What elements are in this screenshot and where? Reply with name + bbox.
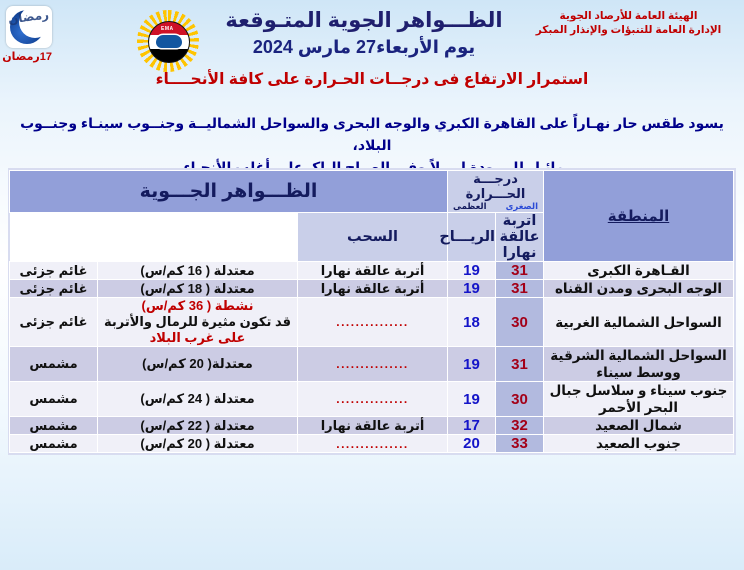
wind-speed-label: نشطة ( 36 كم/س) bbox=[98, 298, 297, 314]
region-cell: السواحل الشمالية الشرقية ووسط سيناء bbox=[544, 347, 734, 382]
wind-speed-label: معتدلة ( 22 كم/س) bbox=[98, 418, 297, 434]
title-block: الظـــواهر الجوية المتـوقعة يوم الأربعاء… bbox=[209, 8, 519, 59]
dust-cell: ............... bbox=[298, 435, 448, 453]
temp-min-cell: 18 bbox=[448, 298, 496, 347]
wind-cell: معتدلة ( 18 كم/س) bbox=[98, 280, 298, 298]
wind-note-line-1: قد تكون مثيرة للرمال والأتربة bbox=[98, 314, 297, 330]
ema-sun-logo: EMA bbox=[137, 10, 199, 72]
wind-speed-label: معتدلة( 20 كم/س) bbox=[98, 356, 297, 372]
temp-max-cell: 30 bbox=[496, 298, 544, 347]
wind-speed-label: معتدلة ( 18 كم/س) bbox=[98, 281, 297, 297]
wind-cell: معتدلة( 20 كم/س) bbox=[98, 347, 298, 382]
page-title: الظـــواهر الجوية المتـوقعة bbox=[209, 8, 519, 34]
page-header: رمضان 17رمضان EMA الظـــواهر الجوية المت… bbox=[0, 0, 744, 168]
dust-placeholder-dots: ............... bbox=[336, 392, 409, 406]
temp-max-cell: 30 bbox=[496, 382, 544, 417]
dust-cell: أتربة عالقة نهارا bbox=[298, 280, 448, 298]
temp-max-cell: 33 bbox=[496, 435, 544, 453]
dust-cell: ............... bbox=[298, 298, 448, 347]
ramadan-logo: رمضان 17رمضان bbox=[4, 6, 52, 63]
ramadan-date-label: 17رمضان bbox=[4, 50, 52, 63]
crescent-moon-icon: رمضان bbox=[6, 6, 52, 48]
temp-min-cell: 20 bbox=[448, 435, 496, 453]
forecast-date: يوم الأربعاء27 مارس 2024 bbox=[209, 35, 519, 59]
forecast-page: رمضان 17رمضان EMA الظـــواهر الجوية المت… bbox=[0, 0, 744, 570]
table-header-row-1: المنطقة درجـــة الحـــرارة الصغرى العظمى… bbox=[10, 171, 734, 213]
cloud-cell: غائم جزئى bbox=[10, 298, 98, 347]
dust-cell: أتربة عالقة نهارا bbox=[298, 417, 448, 435]
table-row: القـاهرة الكبرى3119أتربة عالقة نهارامعتد… bbox=[10, 262, 734, 280]
ema-abbr-label: EMA bbox=[161, 26, 174, 32]
dust-placeholder-dots: ............... bbox=[336, 437, 409, 451]
col-header-dust: اتربة عالقة نهارا bbox=[496, 213, 544, 262]
temp-min-cell: 19 bbox=[448, 347, 496, 382]
table-row: الوجه البحرى ومدن القناه3119أتربة عالقة … bbox=[10, 280, 734, 298]
dust-cell: ............... bbox=[298, 382, 448, 417]
organization-block: الهيئة العامة للأرصاد الجوية الإدارة الع… bbox=[521, 9, 736, 37]
cloud-cell: مشمس bbox=[10, 347, 98, 382]
headline-banner: استمرار الارتفاع فى درجــات الحـرارة على… bbox=[0, 70, 744, 89]
wind-cell: معتدلة ( 20 كم/س) bbox=[98, 435, 298, 453]
dust-placeholder-dots: ............... bbox=[336, 357, 409, 371]
cloud-cell: مشمس bbox=[10, 435, 98, 453]
organization-name: الهيئة العامة للأرصاد الجوية bbox=[521, 9, 736, 23]
forecast-table-body: القـاهرة الكبرى3119أتربة عالقة نهارامعتد… bbox=[10, 262, 734, 453]
wind-cell: نشطة ( 36 كم/س)قد تكون مثيرة للرمال والأ… bbox=[98, 298, 298, 347]
cloud-cell: مشمس bbox=[10, 417, 98, 435]
temp-max-cell: 31 bbox=[496, 262, 544, 280]
col-header-temperature: درجـــة الحـــرارة الصغرى العظمى bbox=[448, 171, 544, 213]
summary-line-1: يسود طقس حار نهـاراً على القاهرة الكبري … bbox=[12, 112, 732, 156]
temp-max-cell: 32 bbox=[496, 417, 544, 435]
region-cell: الوجه البحرى ومدن القناه bbox=[544, 280, 734, 298]
dust-cell: ............... bbox=[298, 347, 448, 382]
dust-cell: أتربة عالقة نهارا bbox=[298, 262, 448, 280]
temp-min-cell: 19 bbox=[448, 280, 496, 298]
cloud-icon bbox=[156, 35, 182, 48]
temp-min-cell: 19 bbox=[448, 262, 496, 280]
col-header-region: المنطقة bbox=[544, 171, 734, 262]
temp-max-label: العظمى bbox=[453, 201, 486, 212]
col-header-cloud: السحب bbox=[298, 213, 448, 262]
department-name: الإدارة العامة للتنبؤات والإنذار المبكر bbox=[521, 23, 736, 37]
temp-min-cell: 17 bbox=[448, 417, 496, 435]
region-cell: جنوب الصعيد bbox=[544, 435, 734, 453]
wind-speed-label: معتدلة ( 20 كم/س) bbox=[98, 436, 297, 452]
flag-stripe-black bbox=[149, 49, 189, 62]
cloud-cell: غائم جزئى bbox=[10, 280, 98, 298]
temperature-sublabels: الصغرى العظمى bbox=[448, 201, 543, 212]
table-row: جنوب سيناء و سلاسل جبال البحر الأحمر3019… bbox=[10, 382, 734, 417]
table-row: السواحل الشمالية الغربية3018............… bbox=[10, 298, 734, 347]
forecast-table-container: المنطقة درجـــة الحـــرارة الصغرى العظمى… bbox=[8, 168, 736, 455]
temp-max-cell: 31 bbox=[496, 280, 544, 298]
wind-cell: معتدلة ( 22 كم/س) bbox=[98, 417, 298, 435]
region-cell: جنوب سيناء و سلاسل جبال البحر الأحمر bbox=[544, 382, 734, 417]
egypt-flag-emblem: EMA bbox=[148, 21, 190, 63]
region-cell: السواحل الشمالية الغربية bbox=[544, 298, 734, 347]
table-row: جنوب الصعيد3320...............معتدلة ( 2… bbox=[10, 435, 734, 453]
temp-min-label: الصغرى bbox=[506, 201, 538, 212]
wind-cell: معتدلة ( 24 كم/س) bbox=[98, 382, 298, 417]
forecast-table: المنطقة درجـــة الحـــرارة الصغرى العظمى… bbox=[9, 170, 734, 453]
cloud-cell: مشمس bbox=[10, 382, 98, 417]
wind-cell: معتدلة ( 16 كم/س) bbox=[98, 262, 298, 280]
cloud-cell: غائم جزئى bbox=[10, 262, 98, 280]
dust-placeholder-dots: ............... bbox=[336, 315, 409, 329]
wind-speed-label: معتدلة ( 24 كم/س) bbox=[98, 391, 297, 407]
wind-speed-label: معتدلة ( 16 كم/س) bbox=[98, 263, 297, 279]
temp-max-cell: 31 bbox=[496, 347, 544, 382]
temp-min-cell: 19 bbox=[448, 382, 496, 417]
table-row: السواحل الشمالية الشرقية ووسط سيناء3119.… bbox=[10, 347, 734, 382]
wind-note-line-2: على غرب البلاد bbox=[98, 330, 297, 346]
region-cell: شمال الصعيد bbox=[544, 417, 734, 435]
col-header-phenomena-group: الظـــواهر الجـــوية bbox=[10, 171, 448, 213]
table-row: شمال الصعيد3217أتربة عالقة نهارامعتدلة (… bbox=[10, 417, 734, 435]
temperature-label: درجـــة الحـــرارة bbox=[448, 171, 543, 201]
col-header-wind: الريـــاح bbox=[448, 213, 496, 262]
region-cell: القـاهرة الكبرى bbox=[544, 262, 734, 280]
